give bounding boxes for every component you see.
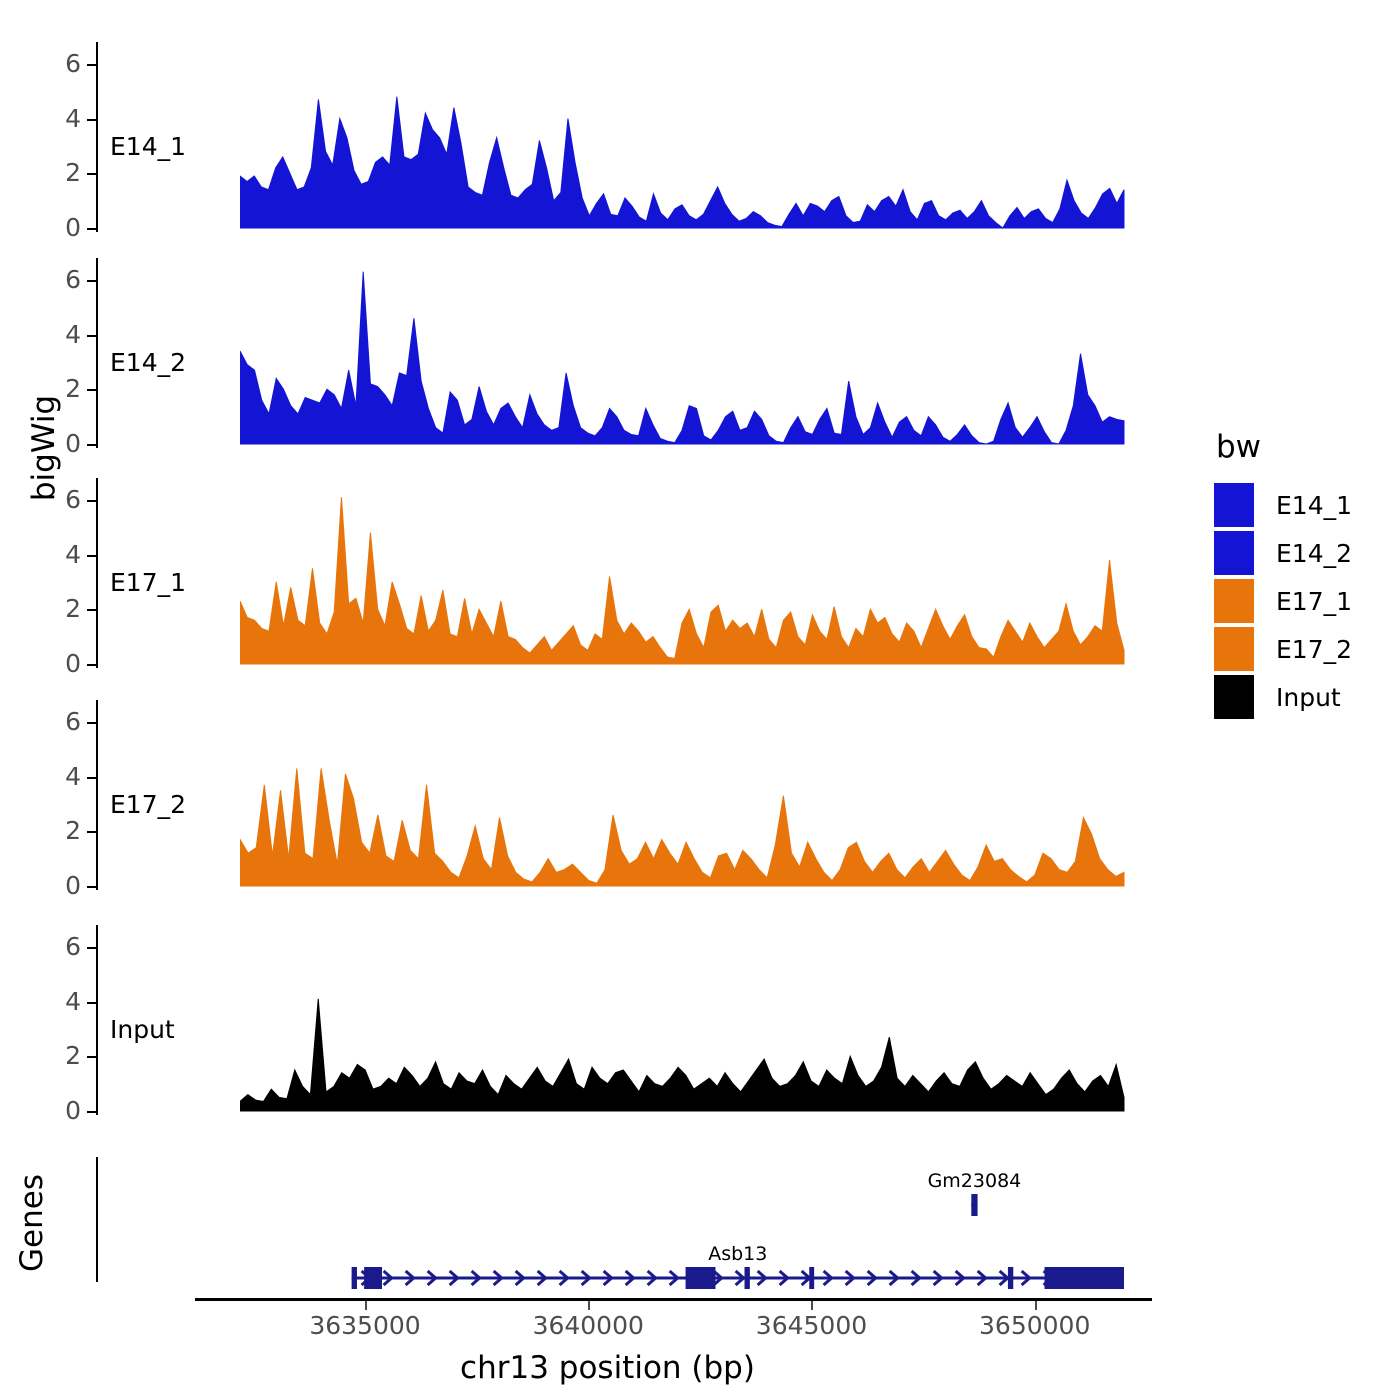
strand-arrow-icon (428, 1271, 436, 1285)
y-tick (87, 1002, 96, 1004)
y-tick-label: 2 (21, 160, 81, 185)
legend-swatch-icon (1214, 627, 1254, 671)
genes-axis-title: Genes (14, 1113, 50, 1333)
y-tick-label: 6 (21, 51, 81, 76)
legend-label: E17_2 (1276, 637, 1352, 662)
track-label-e14_1: E14_1 (110, 132, 186, 161)
gene-exon (809, 1267, 814, 1289)
y-tick-label: 6 (21, 487, 81, 512)
genes-panel-axis (96, 1157, 98, 1282)
gene-exon (686, 1267, 716, 1289)
strand-arrow-icon (1066, 1271, 1074, 1285)
y-tick (87, 609, 96, 611)
legend-swatch-icon (1214, 483, 1254, 527)
strand-arrow-icon (1044, 1271, 1052, 1285)
legend-label: Input (1276, 685, 1341, 710)
gene-exon (745, 1267, 750, 1289)
strand-arrow-icon (1022, 1271, 1030, 1285)
strand-arrow-icon (648, 1271, 656, 1285)
legend-item-input[interactable]: Input (1214, 673, 1352, 721)
strand-arrow-icon (450, 1271, 458, 1285)
y-axis-line (96, 478, 98, 668)
y-tick (87, 1056, 96, 1058)
wiggle-area (240, 497, 1124, 664)
strand-arrow-icon (780, 1271, 788, 1285)
wiggle-track-e17_2 (240, 700, 1126, 888)
y-tick-label: 4 (21, 322, 81, 347)
y-axis-line (96, 700, 98, 890)
x-tick-label: 3635000 (285, 1313, 445, 1338)
plot-root: bigWig Genes 0246E14_10246E14_20246E17_1… (0, 0, 1400, 1400)
gene-label-asb13: Asb13 (648, 1245, 828, 1264)
strand-arrow-icon (538, 1271, 546, 1285)
strand-arrow-icon (1088, 1271, 1096, 1285)
y-tick (87, 173, 96, 175)
strand-arrow-icon (494, 1271, 502, 1285)
wiggle-track-e17_1 (240, 478, 1126, 666)
strand-arrow-icon (890, 1271, 898, 1285)
strand-arrow-icon (516, 1271, 524, 1285)
y-tick-label: 2 (21, 376, 81, 401)
y-tick (87, 389, 96, 391)
y-tick (87, 500, 96, 502)
facet-panel-e14_1: 0246E14_1 (0, 42, 1152, 234)
y-axis-line (96, 925, 98, 1115)
y-tick-label: 4 (21, 764, 81, 789)
y-tick-label: 2 (21, 818, 81, 843)
y-tick (87, 831, 96, 833)
gene-exon (352, 1267, 357, 1289)
legend-items: E14_1E14_2E17_1E17_2Input (1214, 481, 1352, 721)
y-tick (87, 555, 96, 557)
track-label-e17_2: E17_2 (110, 790, 186, 819)
facet-panel-input: 0246Input (0, 925, 1152, 1117)
wiggle-area (240, 272, 1124, 444)
y-tick-label: 2 (21, 1043, 81, 1068)
gene-exon (1045, 1267, 1124, 1289)
y-tick-label: 6 (21, 934, 81, 959)
y-tick (87, 947, 96, 949)
y-tick (87, 335, 96, 337)
y-axis-line (96, 42, 98, 232)
strand-arrow-icon (978, 1271, 986, 1285)
track-label-e14_2: E14_2 (110, 348, 186, 377)
y-tick-label: 0 (21, 873, 81, 898)
y-tick-label: 6 (21, 267, 81, 292)
gene-label-gm23084: Gm23084 (884, 1172, 1064, 1191)
y-tick-label: 4 (21, 989, 81, 1014)
facet-panel-e14_2: 0246E14_2 (0, 258, 1152, 450)
y-tick (87, 280, 96, 282)
legend-item-e17_2[interactable]: E17_2 (1214, 625, 1352, 673)
y-tick-label: 0 (21, 651, 81, 676)
gene-exon (1008, 1267, 1013, 1289)
y-tick (87, 777, 96, 779)
strand-arrow-icon (1000, 1271, 1008, 1285)
strand-arrow-icon (758, 1271, 766, 1285)
x-tick (811, 1301, 813, 1310)
strand-arrow-icon (912, 1271, 920, 1285)
strand-arrow-icon (736, 1271, 744, 1285)
strand-arrow-icon (824, 1271, 832, 1285)
y-tick (87, 886, 96, 888)
facet-panel-e17_1: 0246E17_1 (0, 478, 1152, 670)
y-axis-line (96, 258, 98, 448)
legend-item-e17_1[interactable]: E17_1 (1214, 577, 1352, 625)
y-tick (87, 444, 96, 446)
strand-arrow-icon (802, 1271, 810, 1285)
strand-arrow-icon (670, 1271, 678, 1285)
legend-item-e14_2[interactable]: E14_2 (1214, 529, 1352, 577)
y-tick-label: 4 (21, 106, 81, 131)
legend: bw E14_1E14_2E17_1E17_2Input (1214, 432, 1352, 721)
strand-arrow-icon (1110, 1271, 1118, 1285)
wiggle-area (240, 768, 1124, 886)
facet-panel-e17_2: 0246E17_2 (0, 700, 1152, 892)
y-tick (87, 64, 96, 66)
y-tick-label: 4 (21, 542, 81, 567)
y-tick-label: 0 (21, 215, 81, 240)
strand-arrow-icon (934, 1271, 942, 1285)
x-tick (588, 1301, 590, 1310)
strand-arrow-icon (714, 1271, 722, 1285)
strand-arrow-icon (472, 1271, 480, 1285)
x-tick (365, 1301, 367, 1310)
legend-swatch-icon (1214, 531, 1254, 575)
track-label-e17_1: E17_1 (110, 568, 186, 597)
wiggle-area (240, 999, 1124, 1111)
y-tick (87, 228, 96, 230)
strand-arrow-icon (692, 1271, 700, 1285)
strand-arrow-icon (846, 1271, 854, 1285)
x-axis-title: chr13 position (bp) (0, 1350, 1215, 1386)
legend-label: E14_1 (1276, 493, 1352, 518)
y-tick (87, 119, 96, 121)
x-tick-label: 3650000 (955, 1313, 1115, 1338)
strand-arrow-icon (868, 1271, 876, 1285)
y-tick-label: 2 (21, 596, 81, 621)
wiggle-track-e14_1 (240, 42, 1126, 230)
y-tick-label: 6 (21, 709, 81, 734)
strand-arrow-icon (582, 1271, 590, 1285)
legend-swatch-icon (1214, 579, 1254, 623)
strand-arrow-icon (956, 1271, 964, 1285)
legend-label: E14_2 (1276, 541, 1352, 566)
legend-title: bw (1216, 432, 1352, 463)
legend-label: E17_1 (1276, 589, 1352, 614)
legend-item-e14_1[interactable]: E14_1 (1214, 481, 1352, 529)
x-tick-label: 3640000 (508, 1313, 668, 1338)
gene-exon (971, 1194, 977, 1216)
y-tick (87, 1111, 96, 1113)
strand-arrow-icon (604, 1271, 612, 1285)
x-tick-label: 3645000 (731, 1313, 891, 1338)
wiggle-track-e14_2 (240, 258, 1126, 446)
y-tick (87, 664, 96, 666)
y-tick-label: 0 (21, 431, 81, 456)
strand-arrow-icon (362, 1271, 370, 1285)
strand-arrow-icon (384, 1271, 392, 1285)
y-tick (87, 722, 96, 724)
wiggle-area (240, 97, 1124, 228)
wiggle-track-input (240, 925, 1126, 1113)
track-label-input: Input (110, 1015, 175, 1044)
y-tick-label: 0 (21, 1098, 81, 1123)
strand-arrow-icon (406, 1271, 414, 1285)
x-tick (1035, 1301, 1037, 1310)
strand-arrow-icon (560, 1271, 568, 1285)
strand-arrow-icon (626, 1271, 634, 1285)
gene-exon (364, 1267, 382, 1289)
legend-swatch-icon (1214, 675, 1254, 719)
x-axis-line (195, 1298, 1152, 1301)
